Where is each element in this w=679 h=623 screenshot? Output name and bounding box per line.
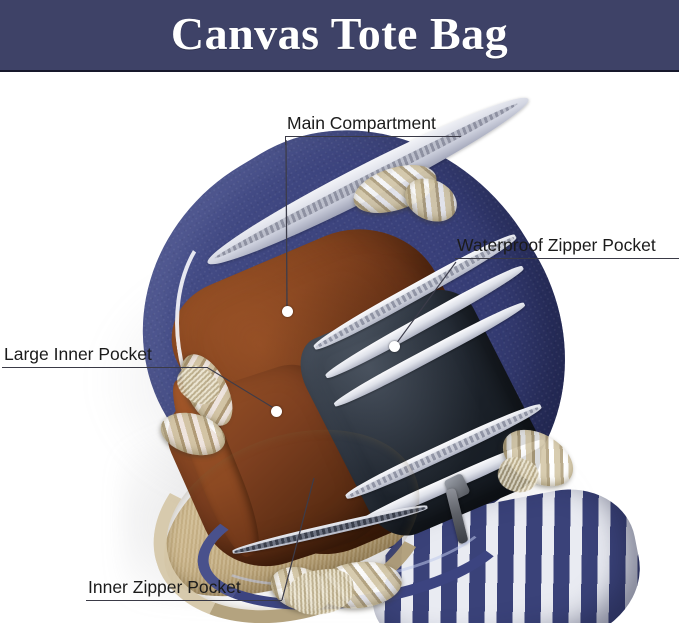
leader-line-waterproof-pocket — [396, 262, 456, 344]
callout-underline-inner-zipper-pocket — [86, 600, 282, 601]
header-banner: Canvas Tote Bag — [0, 0, 679, 70]
callout-label-large-inner-pocket: Large Inner Pocket — [4, 345, 152, 364]
callout-underline-large-inner-pocket — [2, 367, 208, 368]
callout-underline-waterproof-zipper-pocket — [455, 258, 679, 259]
callout-dot-large-inner-pocket — [271, 406, 282, 417]
leader-line-inner-zipper-pocket — [282, 478, 314, 600]
product-infographic: Canvas Tote Bag — [0, 0, 679, 623]
callout-underline-main-compartment — [285, 136, 461, 137]
callout-label-main-compartment: Main Compartment — [287, 114, 436, 133]
callout-label-waterproof-zipper-pocket: Waterproof Zipper Pocket — [457, 236, 656, 255]
callout-dot-waterproof-pocket — [389, 341, 400, 352]
callout-tick-main-compartment — [285, 136, 286, 145]
leader-line-large-inner-pocket — [208, 368, 277, 410]
page-title: Canvas Tote Bag — [171, 11, 508, 57]
callout-dot-main-compartment — [282, 306, 293, 317]
callout-label-inner-zipper-pocket: Inner Zipper Pocket — [88, 578, 241, 597]
leader-line-main-compartment — [286, 140, 287, 310]
